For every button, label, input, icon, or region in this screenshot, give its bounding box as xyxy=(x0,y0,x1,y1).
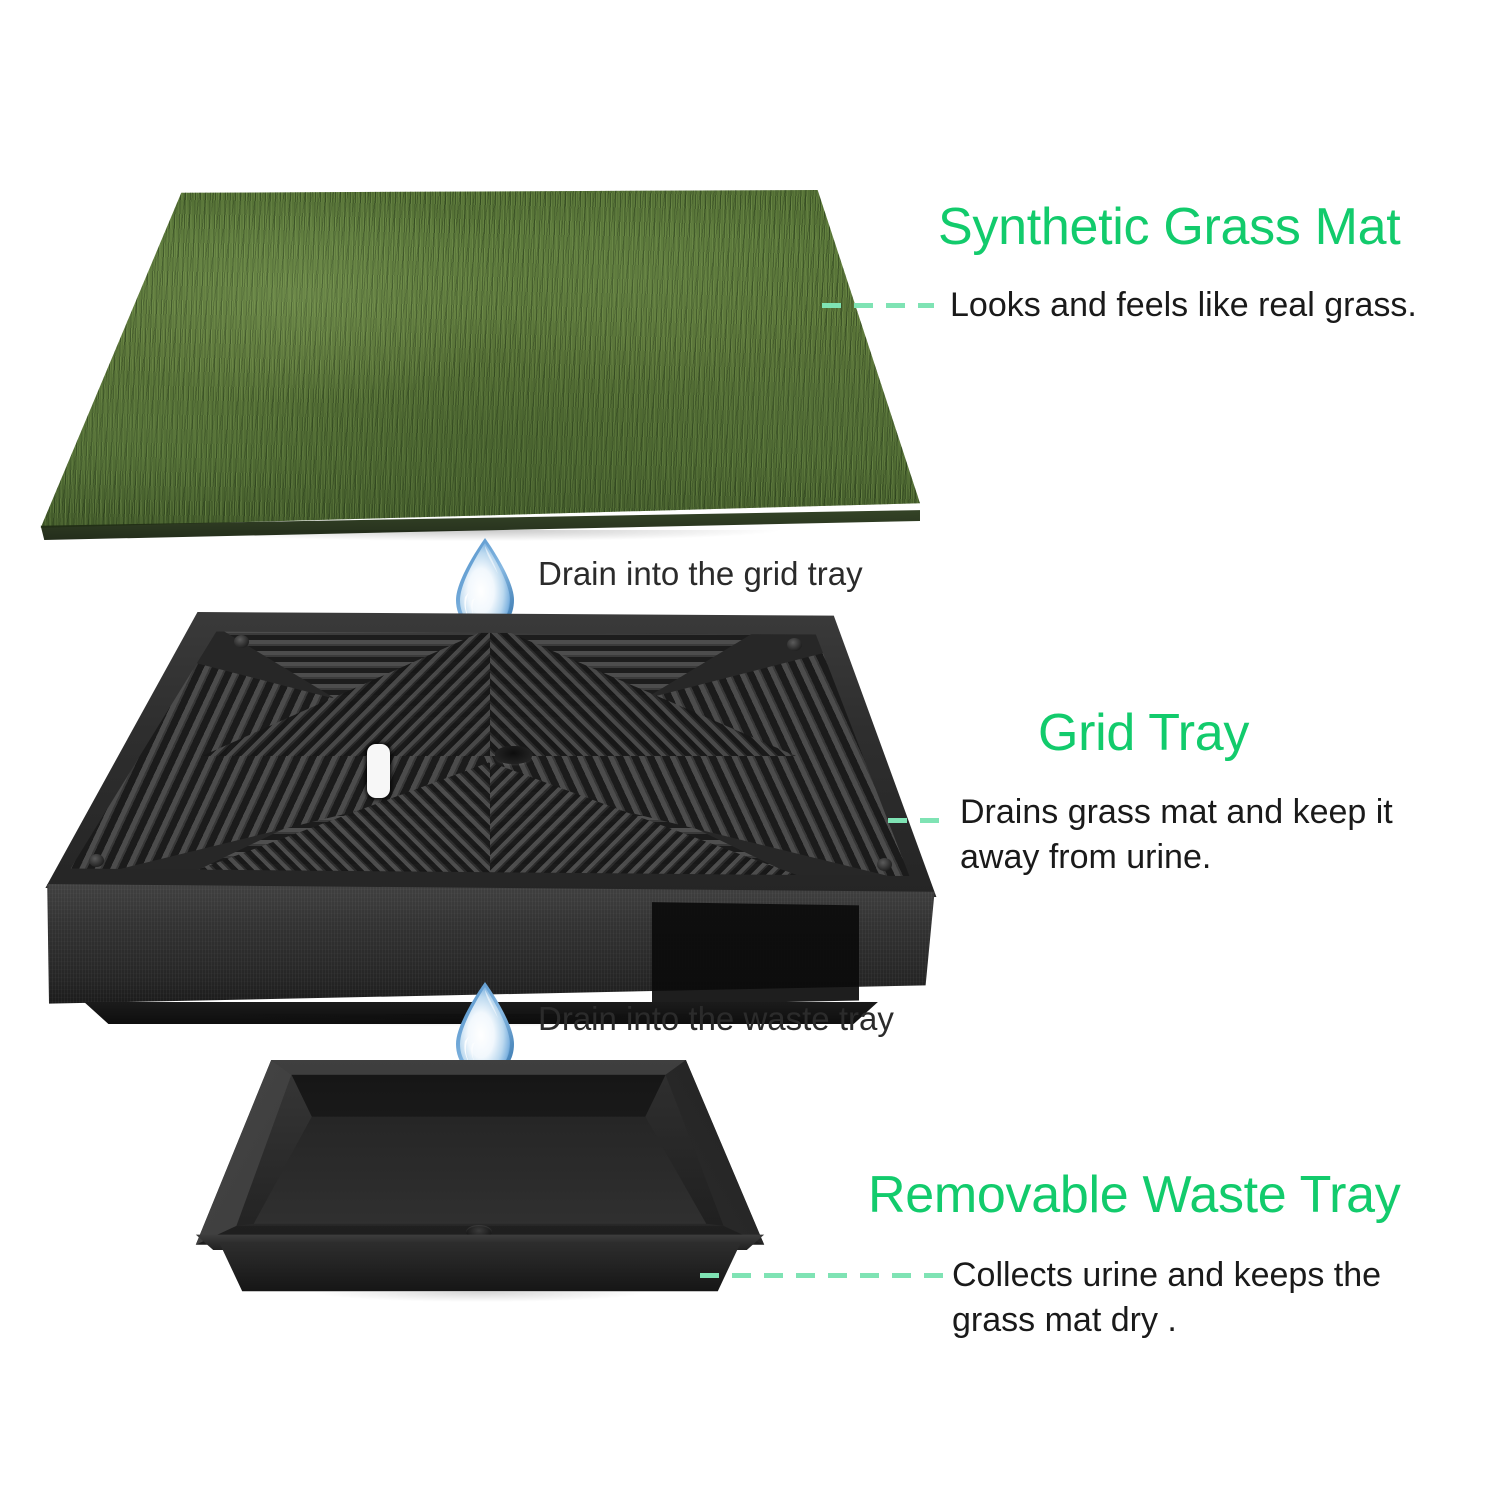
leader-line-grid-tray xyxy=(888,818,952,823)
waste-tray-drop-shadow xyxy=(248,1292,712,1306)
grid-tray-front-notch xyxy=(652,900,859,1008)
section-description-grid-tray-line1: Drains grass mat and keep it xyxy=(960,790,1480,835)
grid-tray-peg-top-left xyxy=(234,635,249,648)
infographic-canvas: Synthetic Grass Mat Looks and feels like… xyxy=(0,0,1500,1500)
section-title-waste-tray: Removable Waste Tray xyxy=(868,1168,1401,1223)
section-description-grid-tray: Drains grass mat and keep it away from u… xyxy=(960,790,1480,880)
section-description-waste-tray-line1: Collects urine and keeps the xyxy=(952,1253,1472,1298)
waste-tray-front-face xyxy=(190,1236,770,1296)
section-description-grid-tray-line2: away from urine. xyxy=(960,835,1480,880)
section-description-grass-mat: Looks and feels like real grass. xyxy=(950,283,1470,328)
leader-line-waste-tray xyxy=(700,1273,950,1278)
grid-tray-peg-top-right xyxy=(787,638,802,651)
grid-tray-peg-bottom-left xyxy=(89,854,104,867)
flow-label-waste-tray: Drain into the waste tray xyxy=(538,1000,894,1038)
leader-line-grass-mat xyxy=(822,303,934,308)
removable-waste-tray-image xyxy=(190,1060,770,1310)
section-title-grid-tray: Grid Tray xyxy=(1038,706,1249,761)
section-description-waste-tray-line2: grass mat dry . xyxy=(952,1298,1472,1343)
grid-tray-peg-bottom-right xyxy=(877,858,892,871)
synthetic-grass-mat-image xyxy=(30,190,920,540)
flow-label-grid-tray: Drain into the grid tray xyxy=(538,555,863,593)
grass-surface xyxy=(30,190,920,540)
section-description-waste-tray: Collects urine and keeps the grass mat d… xyxy=(952,1253,1472,1343)
section-title-grass-mat: Synthetic Grass Mat xyxy=(938,200,1400,255)
grid-tray-image xyxy=(40,612,940,1042)
grid-tray-center-slot xyxy=(367,744,390,798)
grid-tray-center-boss xyxy=(495,746,533,764)
